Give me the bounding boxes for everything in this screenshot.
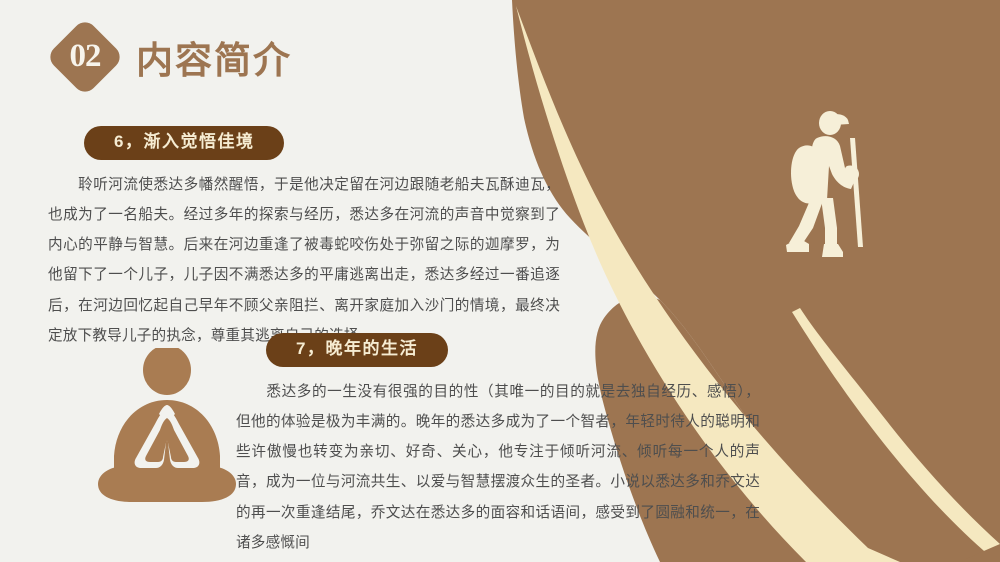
meditating-figure-icon bbox=[96, 348, 238, 508]
content-section-6: 6，渐入觉悟佳境 聆听河流使悉达多幡然醒悟，于是他决定留在河边跟随老船夫瓦酥迪瓦… bbox=[48, 126, 568, 351]
slide-canvas: 02 内容简介 6，渐入觉悟佳境 聆听河流使悉达多幡然醒悟，于是他决定留在河边跟… bbox=[0, 0, 1000, 562]
section-number-badge: 02 bbox=[48, 20, 122, 94]
section-7-paragraph-last-line: 热泪盈眶。 bbox=[236, 558, 760, 562]
section-6-pill-label: 6，渐入觉悟佳境 bbox=[84, 126, 284, 160]
section-number: 02 bbox=[48, 20, 122, 94]
page-title-block: 02 内容简介 bbox=[48, 12, 292, 102]
section-6-pill-row: 6，渐入觉悟佳境 bbox=[48, 126, 568, 160]
section-7-paragraph: 悉达多的一生没有很强的目的性（其唯一的目的就是去独自经历、感悟），但他的体验是极… bbox=[236, 377, 760, 558]
section-7-pill-row: 7，晚年的生活 bbox=[236, 333, 764, 367]
page-title: 内容简介 bbox=[136, 30, 292, 84]
content-section-7: 7，晚年的生活 悉达多的一生没有很强的目的性（其唯一的目的就是去独自经历、感悟）… bbox=[236, 333, 764, 562]
section-7-pill-label: 7，晚年的生活 bbox=[266, 333, 448, 367]
hiker-icon bbox=[779, 108, 899, 273]
section-6-paragraph: 聆听河流使悉达多幡然醒悟，于是他决定留在河边跟随老船夫瓦酥迪瓦，也成为了一名船夫… bbox=[48, 170, 560, 351]
